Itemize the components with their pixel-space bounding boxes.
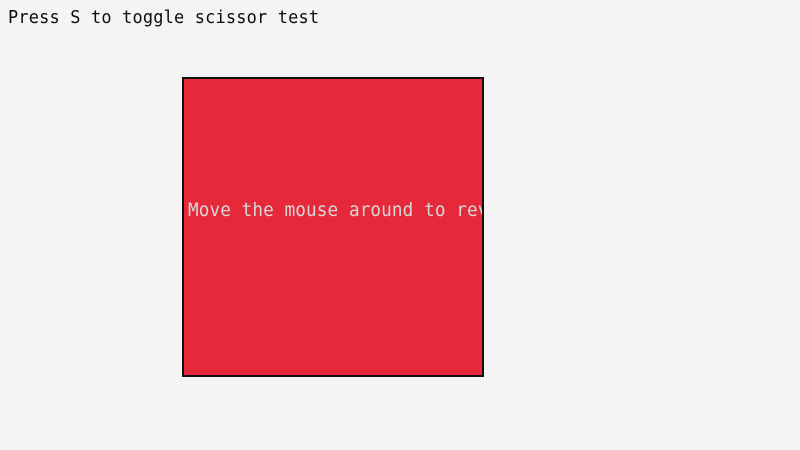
scissor-clip-region: Move the mouse around to reveal this tex…	[184, 79, 482, 375]
scissor-rectangle[interactable]: Move the mouse around to reveal this tex…	[182, 77, 484, 377]
scissor-toggle-hint: Press S to toggle scissor test	[8, 8, 319, 28]
clipped-message-text: Move the mouse around to reveal this tex…	[188, 200, 482, 220]
scissor-test-canvas: Press S to toggle scissor test Move the …	[0, 0, 800, 450]
